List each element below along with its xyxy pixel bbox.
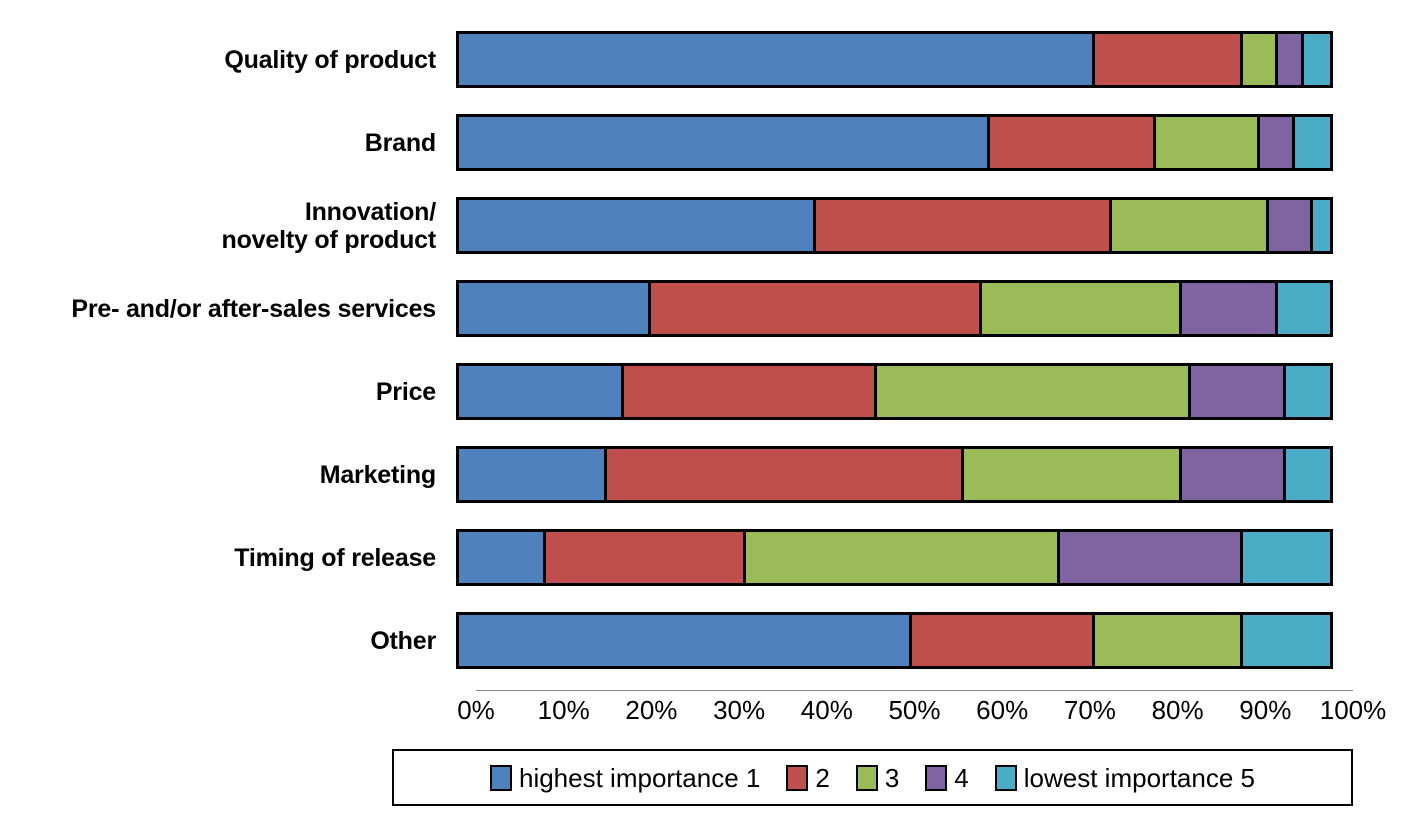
bar-row: Innovation/ novelty of product bbox=[0, 184, 1407, 267]
bar-segment bbox=[459, 366, 624, 417]
bar-segment bbox=[1304, 34, 1330, 85]
x-axis-tick-label: 60% bbox=[976, 694, 1028, 726]
category-label: Quality of product bbox=[0, 46, 456, 74]
bar-segment bbox=[1278, 283, 1330, 334]
bar-segment bbox=[877, 366, 1191, 417]
x-axis-tick-label: 100% bbox=[1320, 694, 1387, 726]
bar-segment bbox=[1260, 117, 1295, 168]
legend-item[interactable]: lowest importance 5 bbox=[995, 763, 1255, 793]
bar-segment bbox=[1313, 200, 1330, 251]
category-label: Timing of release bbox=[0, 544, 456, 572]
bar-segment bbox=[1182, 283, 1278, 334]
bar-segment bbox=[1243, 34, 1278, 85]
bar-rows: Quality of productBrandInnovation/ novel… bbox=[0, 18, 1407, 682]
bar-segment bbox=[964, 449, 1182, 500]
bar-segment bbox=[1243, 532, 1330, 583]
bar-track bbox=[456, 280, 1333, 337]
category-label: Innovation/ novelty of product bbox=[0, 198, 456, 254]
x-axis-tick-label: 0% bbox=[457, 694, 495, 726]
category-label: Other bbox=[0, 627, 456, 655]
legend-item[interactable]: 3 bbox=[856, 763, 899, 793]
bar-track bbox=[456, 612, 1333, 669]
category-label: Brand bbox=[0, 129, 456, 157]
bar-segment bbox=[1156, 117, 1261, 168]
x-axis-tick-label: 50% bbox=[888, 694, 940, 726]
bar-segment bbox=[459, 117, 990, 168]
bar-segment bbox=[816, 200, 1112, 251]
plot-area: Quality of productBrandInnovation/ novel… bbox=[0, 0, 1407, 690]
legend-swatch-icon bbox=[786, 765, 808, 791]
bar-track bbox=[456, 529, 1333, 586]
category-label: Pre- and/or after-sales services bbox=[0, 295, 456, 323]
bar-track bbox=[456, 363, 1333, 420]
bar-row: Brand bbox=[0, 101, 1407, 184]
bar-segment bbox=[459, 532, 546, 583]
bar-segment bbox=[1243, 615, 1330, 666]
x-axis-tick-label: 70% bbox=[1064, 694, 1116, 726]
legend-swatch-icon bbox=[925, 765, 947, 791]
x-axis-tick-label: 90% bbox=[1239, 694, 1291, 726]
x-axis-tick-label: 30% bbox=[713, 694, 765, 726]
bar-track bbox=[456, 197, 1333, 254]
legend-swatch-icon bbox=[490, 765, 512, 791]
bar-segment bbox=[982, 283, 1182, 334]
legend-item[interactable]: highest importance 1 bbox=[490, 763, 760, 793]
legend-item[interactable]: 2 bbox=[786, 763, 829, 793]
bar-segment bbox=[746, 532, 1060, 583]
bar-segment bbox=[459, 615, 912, 666]
category-label: Marketing bbox=[0, 461, 456, 489]
bar-segment bbox=[651, 283, 982, 334]
x-axis: 0%10%20%30%40%50%60%70%80%90%100% bbox=[476, 690, 1353, 738]
bar-segment bbox=[459, 34, 1095, 85]
bar-track bbox=[456, 114, 1333, 171]
bar-segment bbox=[1269, 200, 1313, 251]
bar-segment bbox=[459, 200, 816, 251]
x-axis-line bbox=[476, 690, 1353, 691]
bar-segment bbox=[912, 615, 1095, 666]
bar-segment bbox=[1191, 366, 1287, 417]
chart-legend: highest importance 1234lowest importance… bbox=[392, 749, 1353, 806]
bar-segment bbox=[1095, 615, 1243, 666]
bar-segment bbox=[1278, 34, 1304, 85]
bar-segment bbox=[459, 449, 607, 500]
bar-track bbox=[456, 31, 1333, 88]
x-axis-tick-label: 10% bbox=[538, 694, 590, 726]
bar-segment bbox=[607, 449, 964, 500]
x-axis-tick-label: 80% bbox=[1152, 694, 1204, 726]
bar-segment bbox=[624, 366, 877, 417]
legend-label: highest importance 1 bbox=[519, 763, 760, 793]
legend-item[interactable]: 4 bbox=[925, 763, 968, 793]
legend-label: 4 bbox=[954, 763, 968, 793]
legend-label: 2 bbox=[815, 763, 829, 793]
legend-label: lowest importance 5 bbox=[1024, 763, 1255, 793]
stacked-bar-chart: Quality of productBrandInnovation/ novel… bbox=[0, 0, 1407, 821]
bar-row: Timing of release bbox=[0, 516, 1407, 599]
bar-segment bbox=[1060, 532, 1243, 583]
bar-segment bbox=[1182, 449, 1287, 500]
bar-row: Price bbox=[0, 350, 1407, 433]
bar-segment bbox=[1095, 34, 1243, 85]
x-axis-tick-labels: 0%10%20%30%40%50%60%70%80%90%100% bbox=[476, 694, 1353, 734]
x-axis-tick-label: 40% bbox=[801, 694, 853, 726]
bar-segment bbox=[459, 283, 651, 334]
bar-row: Marketing bbox=[0, 433, 1407, 516]
bar-segment bbox=[1286, 366, 1330, 417]
x-axis-tick-label: 20% bbox=[625, 694, 677, 726]
bar-segment bbox=[1295, 117, 1330, 168]
category-label: Price bbox=[0, 378, 456, 406]
bar-row: Pre- and/or after-sales services bbox=[0, 267, 1407, 350]
bar-segment bbox=[546, 532, 746, 583]
bar-row: Quality of product bbox=[0, 18, 1407, 101]
bar-row: Other bbox=[0, 599, 1407, 682]
bar-segment bbox=[990, 117, 1155, 168]
legend-swatch-icon bbox=[995, 765, 1017, 791]
bar-segment bbox=[1112, 200, 1269, 251]
bar-segment bbox=[1286, 449, 1330, 500]
legend-label: 3 bbox=[885, 763, 899, 793]
legend-swatch-icon bbox=[856, 765, 878, 791]
bar-track bbox=[456, 446, 1333, 503]
